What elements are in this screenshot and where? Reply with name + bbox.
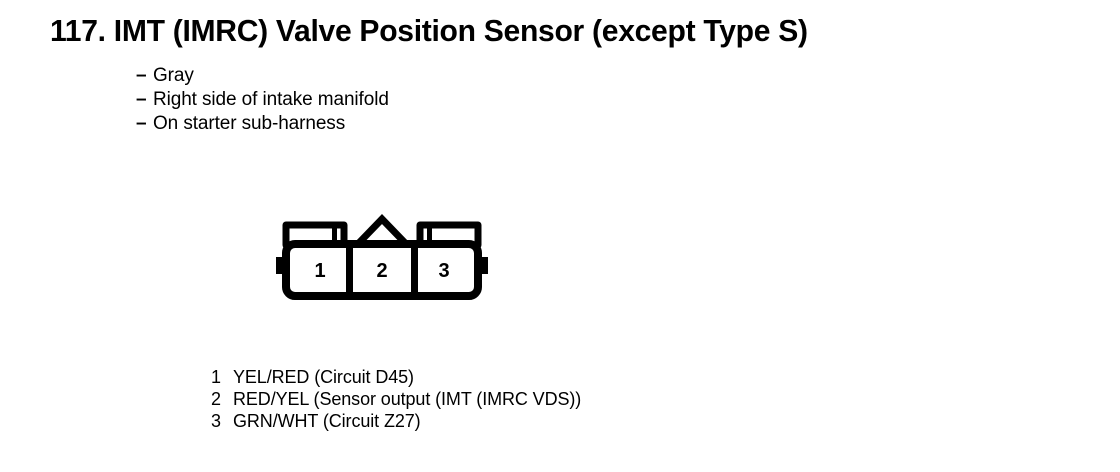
specification-list: – Gray – Right side of intake manifold –…: [136, 64, 389, 136]
legend-pin-number: 1: [211, 366, 233, 388]
list-item-label: Gray: [153, 64, 194, 88]
legend-pin-description: GRN/WHT (Circuit Z27): [233, 410, 421, 432]
right-tab-slot: [427, 225, 432, 241]
legend-row: 3 GRN/WHT (Circuit Z27): [211, 410, 581, 432]
dash-bullet-icon: –: [136, 88, 153, 112]
dash-bullet-icon: –: [136, 64, 153, 88]
legend-pin-number: 2: [211, 388, 233, 410]
list-item: – Gray: [136, 64, 389, 88]
list-item: – Right side of intake manifold: [136, 88, 389, 112]
cavity-number-1: 1: [314, 260, 325, 282]
list-item-label: On starter sub-harness: [153, 112, 345, 136]
legend-row: 1 YEL/RED (Circuit D45): [211, 366, 581, 388]
legend-pin-description: YEL/RED (Circuit D45): [233, 366, 414, 388]
pin-legend: 1 YEL/RED (Circuit D45) 2 RED/YEL (Senso…: [211, 366, 581, 432]
cavity-divider-1-2: [346, 244, 353, 296]
legend-row: 2 RED/YEL (Sensor output (IMT (IMRC VDS)…: [211, 388, 581, 410]
legend-pin-number: 3: [211, 410, 233, 432]
left-tab-slot: [332, 225, 337, 241]
cavity-divider-2-3: [411, 244, 418, 296]
page-title-text: 117. IMT (IMRC) Valve Position Sensor (e…: [50, 13, 808, 49]
legend-pin-description: RED/YEL (Sensor output (IMT (IMRC VDS)): [233, 388, 581, 410]
cavity-number-3: 3: [438, 260, 449, 282]
page-title: 117. IMT (IMRC) Valve Position Sensor (e…: [50, 13, 831, 49]
connector-diagram: 1 2 3: [272, 206, 492, 306]
cavity-number-2: 2: [376, 260, 387, 282]
list-item: – On starter sub-harness: [136, 112, 389, 136]
dash-bullet-icon: –: [136, 112, 153, 136]
list-item-label: Right side of intake manifold: [153, 88, 389, 112]
